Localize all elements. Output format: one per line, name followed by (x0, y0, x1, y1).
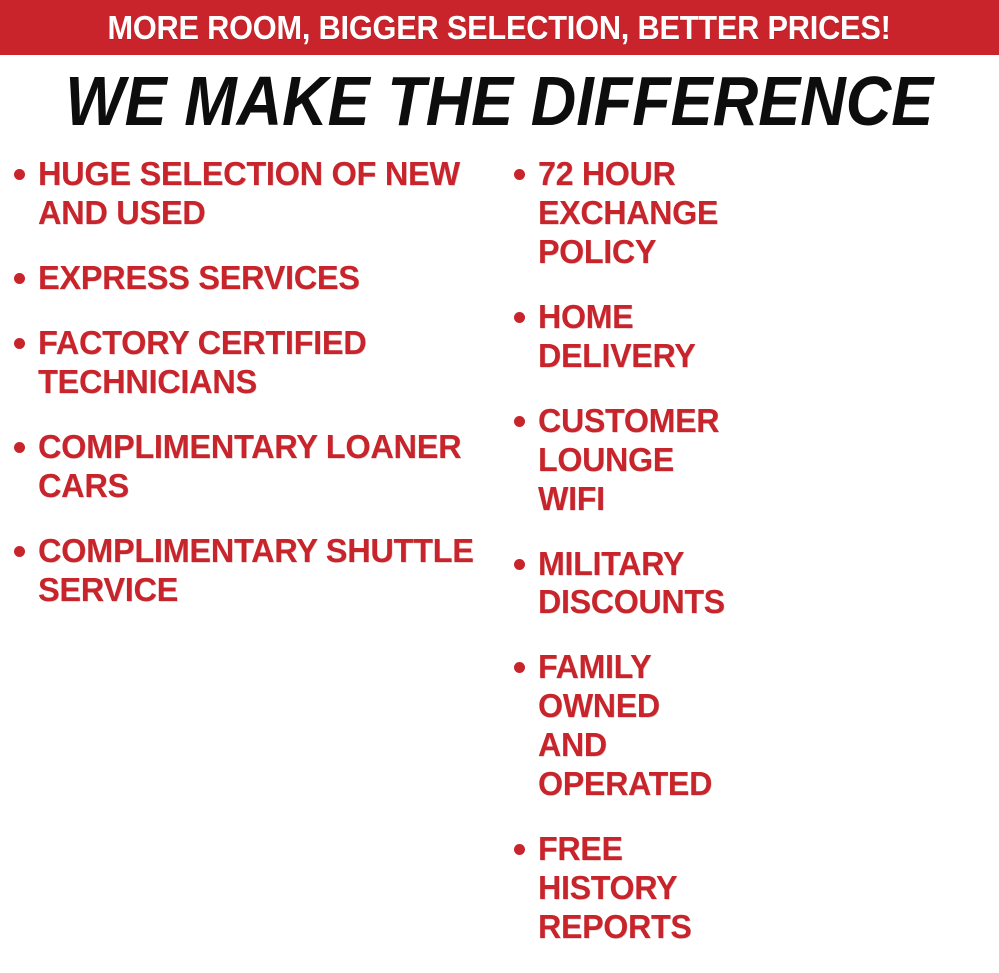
list-item: FACTORY CERTIFIED TECHNICIANS (14, 324, 496, 402)
header-tagline-text: MORE ROOM, BIGGER SELECTION, BETTER PRIC… (108, 11, 891, 44)
list-item-label: COMPLIMENTARY LOANER CARS (38, 428, 489, 506)
list-item: HUGE SELECTION OF NEW AND USED (14, 155, 496, 233)
list-item-label: HUGE SELECTION OF NEW AND USED (38, 155, 489, 233)
header-tagline-band: MORE ROOM, BIGGER SELECTION, BETTER PRIC… (0, 0, 999, 55)
list-item: COMPLIMENTARY LOANER CARS (14, 428, 496, 506)
bullet-dot-icon (514, 844, 525, 855)
headline-block: WE MAKE THE DIFFERENCE (0, 66, 999, 137)
list-item-label: EXPRESS SERVICES (38, 259, 360, 298)
list-item-label: 72 HOUR EXCHANGE POLICY (538, 155, 718, 272)
list-item: COMPLIMENTARY SHUTTLE SERVICE (14, 532, 496, 610)
list-item-label: FREE HISTORY REPORTS (538, 830, 691, 947)
list-item-label: FAMILY OWNED AND OPERATED (538, 648, 712, 804)
bullet-dot-icon (514, 169, 525, 180)
list-item-label: HOME DELIVERY (538, 298, 695, 376)
dealership-promo-banner: MORE ROOM, BIGGER SELECTION, BETTER PRIC… (0, 0, 999, 692)
list-item-label: COMPLIMENTARY SHUTTLE SERVICE (38, 532, 489, 610)
bullet-dot-icon (514, 559, 525, 570)
benefits-column-left: HUGE SELECTION OF NEW AND USEDEXPRESS SE… (0, 155, 500, 635)
bullet-dot-icon (514, 662, 525, 673)
benefits-columns: HUGE SELECTION OF NEW AND USEDEXPRESS SE… (0, 155, 999, 692)
list-item-label: FACTORY CERTIFIED TECHNICIANS (38, 324, 489, 402)
bullet-dot-icon (514, 416, 525, 427)
page-title: WE MAKE THE DIFFERENCE (65, 66, 933, 137)
list-item-label: MILITARY DISCOUNTS (538, 545, 725, 623)
list-item-label: CUSTOMER LOUNGE WIFI (538, 402, 719, 519)
bullet-dot-icon (514, 312, 525, 323)
